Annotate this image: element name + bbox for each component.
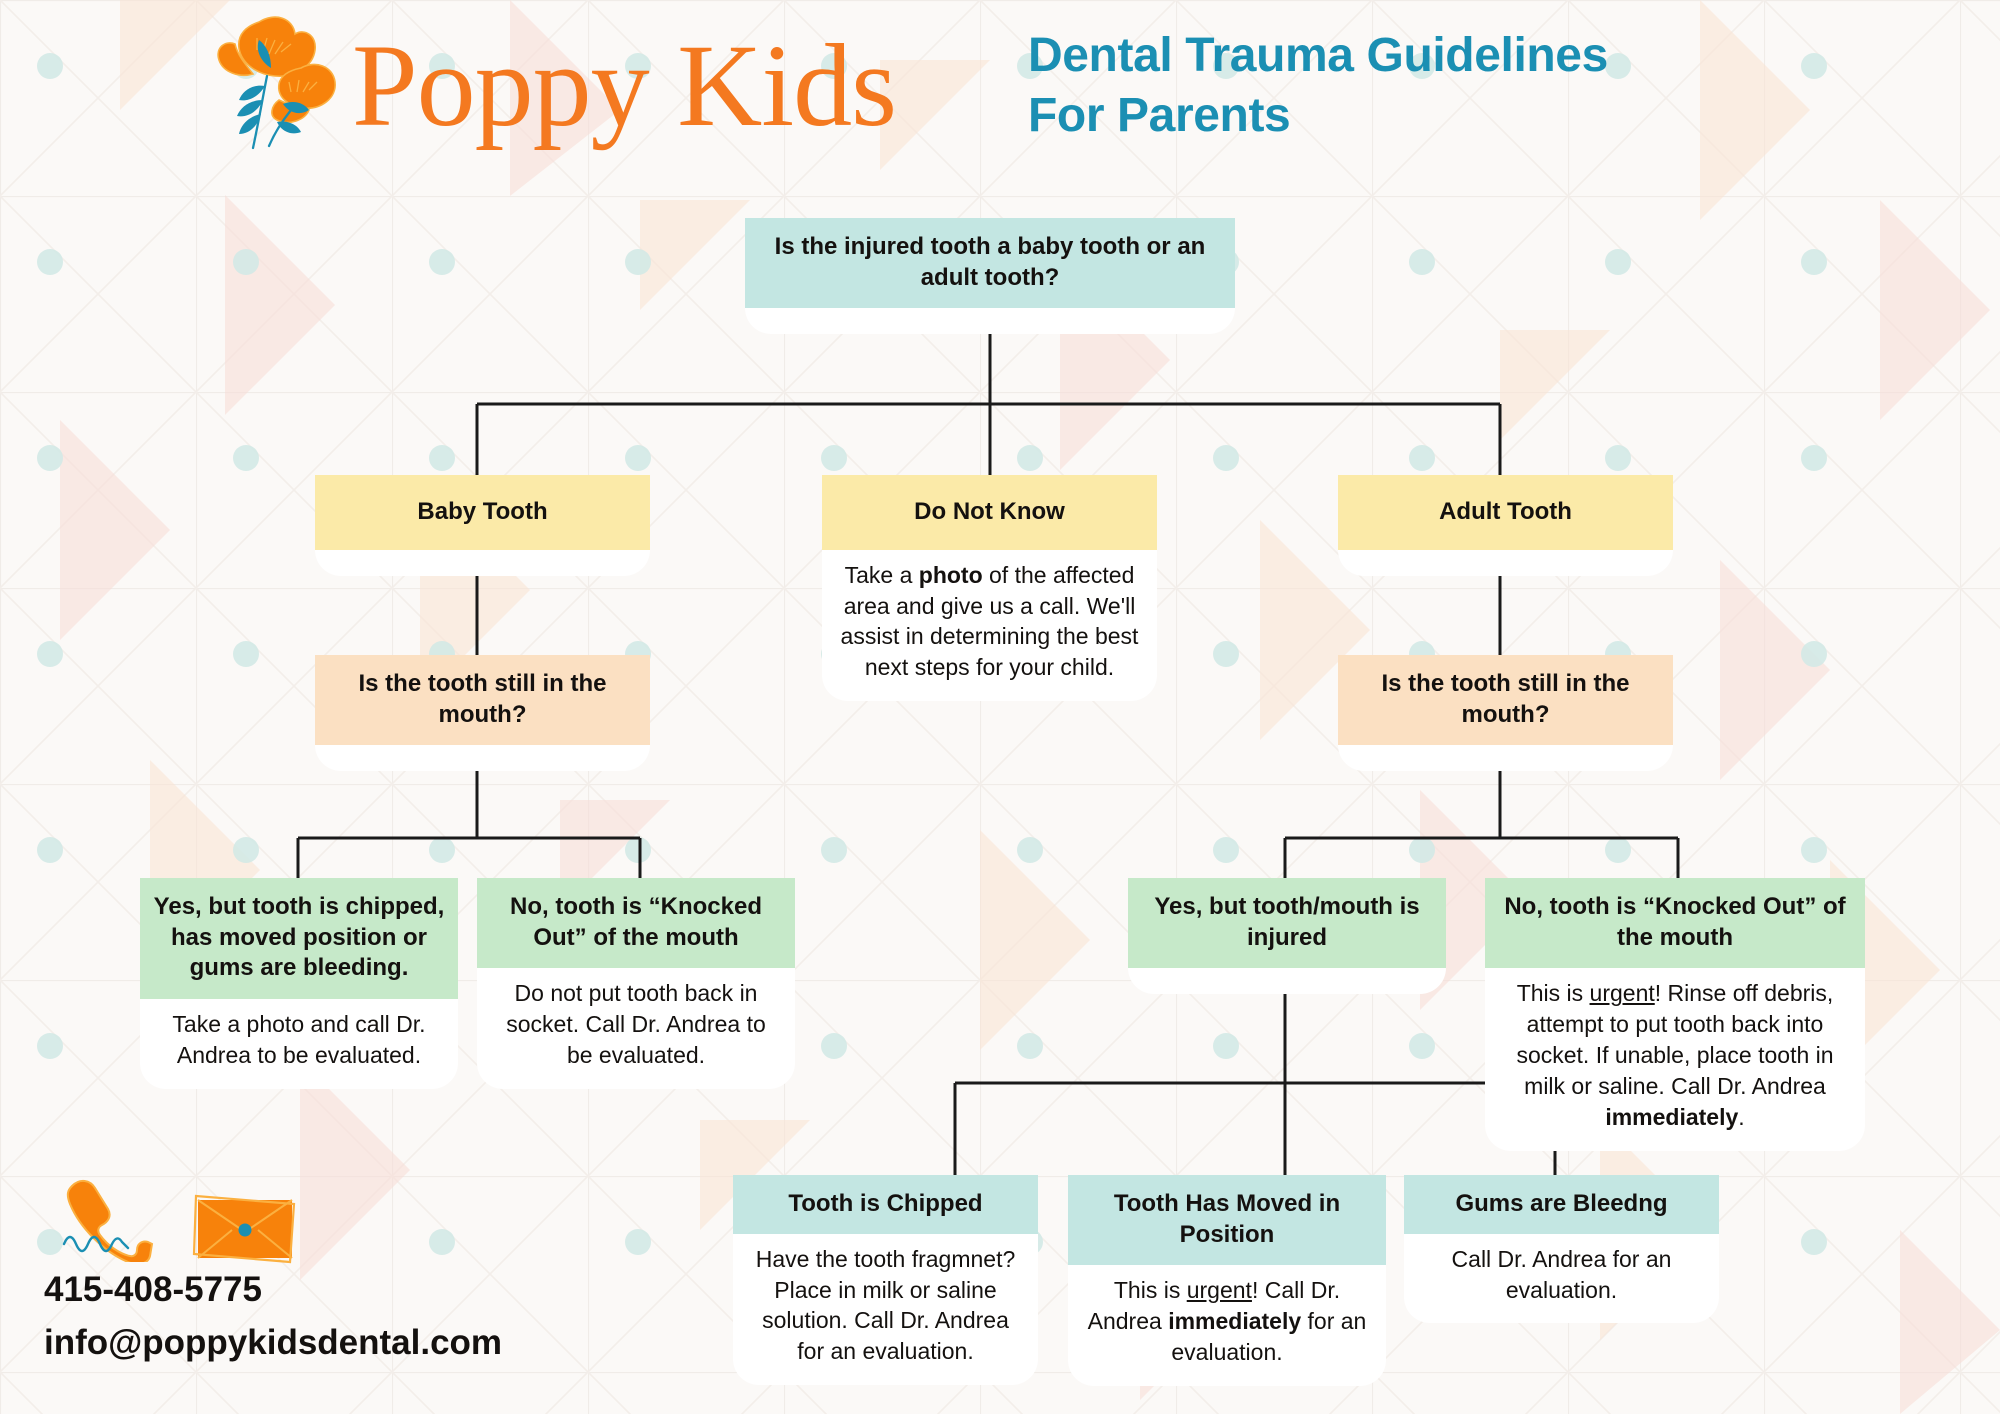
node-adult-still-in-mouth[interactable]: Is the tooth still in the mouth?	[1338, 655, 1673, 771]
node-tooth-moved-label: Tooth Has Moved in Position	[1068, 1175, 1386, 1265]
text-bold: immediately	[1605, 1104, 1738, 1130]
node-gums-bleeding[interactable]: Gums are Bleedng Call Dr. Andrea for an …	[1404, 1175, 1719, 1323]
contact-icons	[44, 1180, 502, 1260]
node-tooth-chipped-body: Have the tooth fragmnet? Place in milk o…	[733, 1234, 1038, 1385]
text-pre: Take a	[845, 562, 919, 588]
brand-wordmark: Poppy Kids	[352, 14, 896, 158]
node-root-label: Is the injured tooth a baby tooth or an …	[745, 218, 1235, 308]
node-adult-no-label: No, tooth is “Knocked Out” of the mouth	[1485, 878, 1865, 968]
text-3: .	[1738, 1104, 1744, 1130]
node-gums-bleeding-label: Gums are Bleedng	[1404, 1175, 1719, 1234]
text-urgent: urgent	[1187, 1277, 1252, 1303]
node-adult-yes-label: Yes, but tooth/mouth is injured	[1128, 878, 1446, 968]
card-foot	[315, 745, 650, 771]
card-foot	[745, 308, 1235, 334]
envelope-icon[interactable]	[190, 1190, 302, 1268]
node-do-not-know-label: Do Not Know	[822, 475, 1157, 550]
node-root[interactable]: Is the injured tooth a baby tooth or an …	[745, 218, 1235, 334]
node-baby-tooth[interactable]: Baby Tooth	[315, 475, 650, 576]
node-do-not-know-body: Take a photo of the affected area and gi…	[822, 550, 1157, 701]
node-tooth-chipped[interactable]: Tooth is Chipped Have the tooth fragmnet…	[733, 1175, 1038, 1385]
node-adult-tooth-label: Adult Tooth	[1338, 475, 1673, 550]
node-adult-still-in-mouth-label: Is the tooth still in the mouth?	[1338, 655, 1673, 745]
node-tooth-moved-body: This is urgent! Call Dr. Andrea immediat…	[1068, 1265, 1386, 1385]
poppy-flower-icon	[205, 8, 350, 158]
node-baby-still-in-mouth-label: Is the tooth still in the mouth?	[315, 655, 650, 745]
card-foot	[1338, 745, 1673, 771]
contact-block: 415-408-5775 info@poppykidsdental.com	[44, 1180, 502, 1366]
text-bold: photo	[919, 562, 983, 588]
node-adult-no[interactable]: No, tooth is “Knocked Out” of the mouth …	[1485, 878, 1865, 1151]
node-baby-no[interactable]: No, tooth is “Knocked Out” of the mouth …	[477, 878, 795, 1089]
card-foot	[315, 550, 650, 576]
node-baby-no-body: Do not put tooth back in socket. Call Dr…	[477, 968, 795, 1088]
node-baby-yes[interactable]: Yes, but tooth is chipped, has moved pos…	[140, 878, 458, 1089]
contact-phone[interactable]: 415-408-5775	[44, 1268, 502, 1313]
node-baby-yes-label: Yes, but tooth is chipped, has moved pos…	[140, 878, 458, 999]
node-adult-no-body: This is urgent! Rinse off debris, attemp…	[1485, 968, 1865, 1150]
page-header: Poppy Kids Dental Trauma Guidelines For …	[0, 0, 2000, 190]
node-adult-tooth[interactable]: Adult Tooth	[1338, 475, 1673, 576]
node-tooth-chipped-label: Tooth is Chipped	[733, 1175, 1038, 1234]
node-do-not-know[interactable]: Do Not Know Take a photo of the affected…	[822, 475, 1157, 701]
text-1: This is	[1114, 1277, 1187, 1303]
card-foot	[1128, 968, 1446, 994]
node-gums-bleeding-body: Call Dr. Andrea for an evaluation.	[1404, 1234, 1719, 1324]
page-title: Dental Trauma Guidelines For Parents	[1028, 26, 1608, 147]
text-1: This is	[1517, 980, 1590, 1006]
node-adult-yes[interactable]: Yes, but tooth/mouth is injured	[1128, 878, 1446, 994]
node-baby-tooth-label: Baby Tooth	[315, 475, 650, 550]
node-baby-yes-body: Take a photo and call Dr. Andrea to be e…	[140, 999, 458, 1089]
node-tooth-moved[interactable]: Tooth Has Moved in Position This is urge…	[1068, 1175, 1386, 1386]
card-foot	[1338, 550, 1673, 576]
text-urgent: urgent	[1590, 980, 1655, 1006]
node-baby-no-label: No, tooth is “Knocked Out” of the mouth	[477, 878, 795, 968]
contact-email[interactable]: info@poppykidsdental.com	[44, 1321, 502, 1366]
text-bold: immediately	[1168, 1308, 1301, 1334]
phone-icon[interactable]	[58, 1176, 154, 1262]
node-baby-still-in-mouth[interactable]: Is the tooth still in the mouth?	[315, 655, 650, 771]
